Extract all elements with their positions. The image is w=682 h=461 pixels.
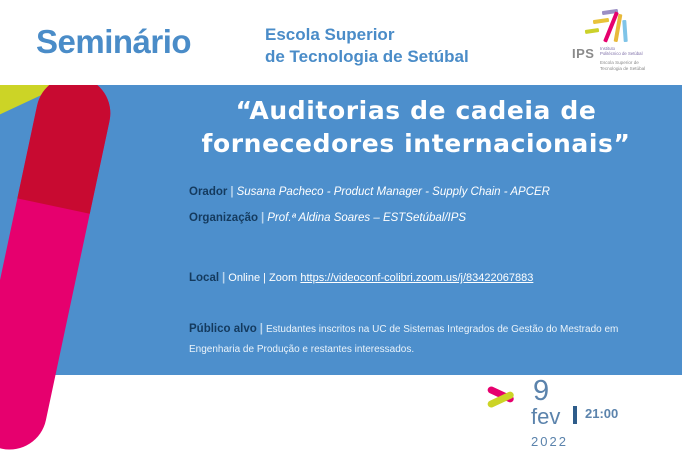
event-month: fev — [531, 404, 560, 430]
event-date-block: 9 fev 21:00 2022 — [487, 378, 677, 458]
seminar-poster: Seminário Escola Superior de Tecnologia … — [0, 0, 682, 461]
location-row: Local|Online | Zoom https://videoconf-co… — [189, 270, 533, 287]
page-title-line2: fornecedores internacionais” — [180, 127, 652, 160]
speaker-label: Orador — [189, 186, 227, 198]
date-time-separator — [573, 406, 577, 424]
page-title-line1: “Auditorias de cadeia de — [180, 94, 652, 127]
location-separator: | — [219, 272, 228, 284]
audience-label: Público alvo — [189, 323, 257, 335]
page-title: “Auditorias de cadeia de fornecedores in… — [180, 94, 652, 160]
speaker-separator: | — [227, 186, 236, 198]
organization-label: Organização — [189, 212, 258, 224]
location-label: Local — [189, 272, 219, 284]
speaker-value: Susana Pacheco - Product Manager - Suppl… — [237, 186, 550, 198]
speaker-row: Orador|Susana Pacheco - Product Manager … — [189, 184, 669, 201]
location-value: Online | Zoom — [228, 272, 297, 284]
seminar-label: Seminário — [36, 23, 191, 61]
ips-logo-institute: Instituto Politécnico de Setúbal — [600, 46, 643, 56]
chevron-right-icon — [487, 382, 523, 410]
poster-header: Seminário Escola Superior de Tecnologia … — [0, 0, 682, 85]
ips-logo: IPS Instituto Politécnico de Setúbal Esc… — [572, 8, 672, 78]
audience-separator: | — [257, 323, 266, 335]
event-details: Orador|Susana Pacheco - Product Manager … — [189, 184, 669, 236]
event-day: 9 — [533, 374, 549, 408]
ips-logo-mark-icon — [582, 8, 634, 48]
school-name-line1: Escola Superior — [265, 24, 469, 46]
school-name: Escola Superior de Tecnologia de Setúbal — [265, 24, 469, 68]
zoom-meeting-link[interactable]: https://videoconf-colibri.zoom.us/j/8342… — [300, 272, 533, 284]
organization-row: Organização|Prof.ª Aldina Soares – ESTSe… — [189, 210, 669, 227]
ips-logo-school: Escola Superior de Tecnologia de Setúbal — [600, 60, 645, 72]
ips-logo-institute-line2: Politécnico de Setúbal — [600, 51, 643, 56]
ips-logo-acronym: IPS — [572, 46, 594, 61]
ips-logo-school-line2: Tecnologia de Setúbal — [600, 66, 645, 72]
school-name-line2: de Tecnologia de Setúbal — [265, 46, 469, 68]
organization-value: Prof.ª Aldina Soares – ESTSetúbal/IPS — [267, 212, 466, 224]
event-time: 21:00 — [585, 406, 618, 421]
audience-row: Público alvo|Estudantes inscritos na UC … — [189, 320, 667, 360]
event-year: 2022 — [531, 434, 568, 449]
organization-separator: | — [258, 212, 267, 224]
